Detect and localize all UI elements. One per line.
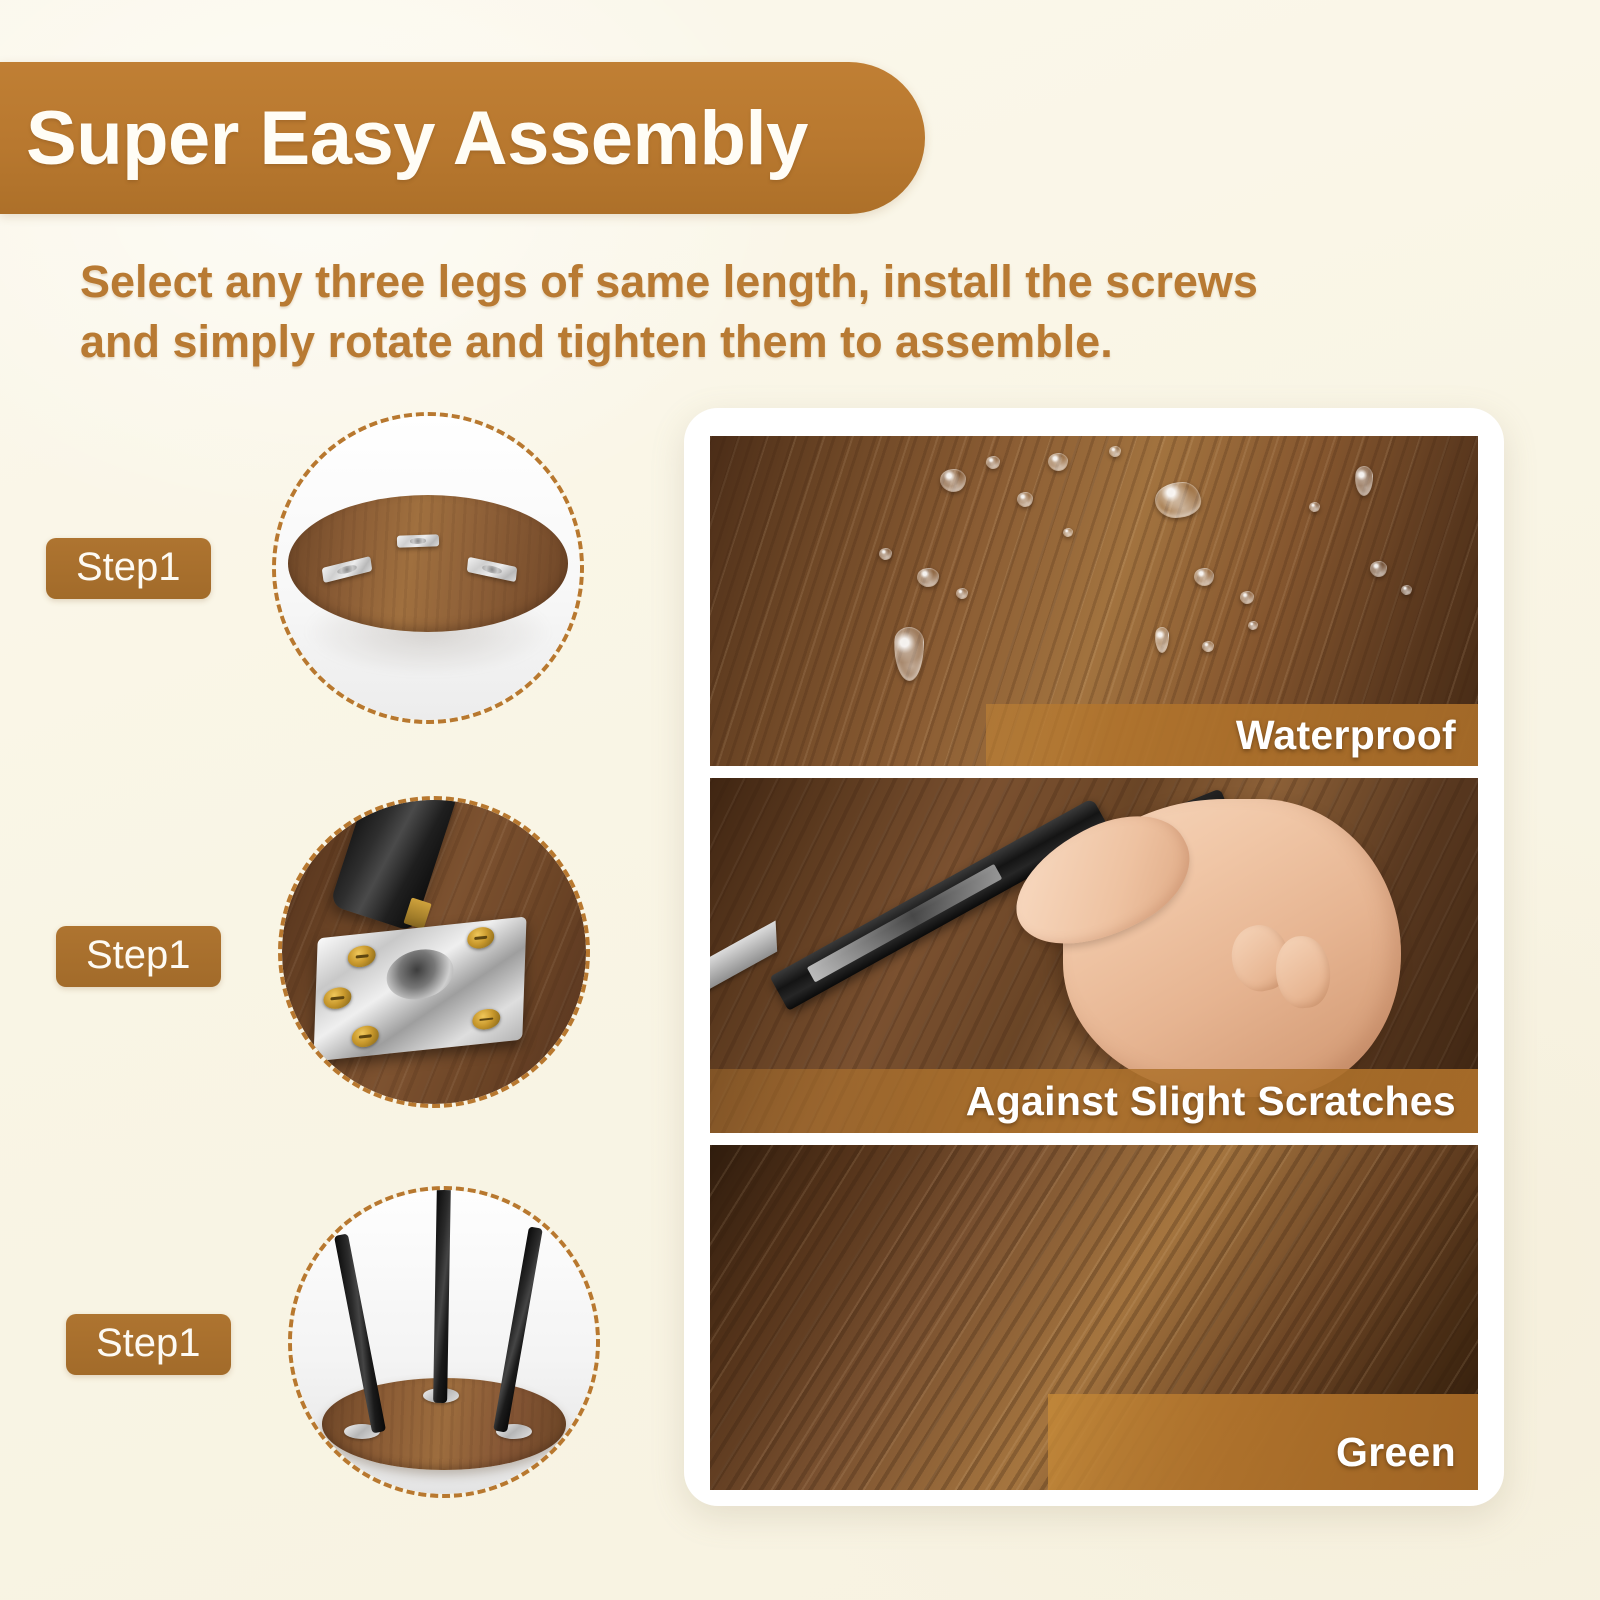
mounting-plate-icon (467, 557, 518, 583)
water-droplet-icon (956, 588, 968, 599)
tabletop-surface (288, 495, 568, 632)
step-badge-3: Step1 (66, 1314, 231, 1375)
feature-caption-scratches: Against Slight Scratches (710, 1069, 1478, 1133)
subtitle: Select any three legs of same length, in… (80, 252, 1340, 372)
feature-photo-card: Waterproof Against Slight Scratches Gree… (684, 408, 1504, 1506)
feature-caption-green: Green (1048, 1394, 1478, 1490)
water-droplet-icon (1194, 568, 1214, 586)
screw-icon (348, 944, 376, 968)
water-droplet-icon (1240, 591, 1254, 604)
water-droplet-icon (1248, 621, 1258, 630)
step-item: Step1 (0, 400, 660, 740)
step-item: Step1 (0, 788, 660, 1128)
mounting-plate-icon (314, 916, 527, 1061)
leg-mounting-illustration (282, 800, 586, 1104)
subtitle-line-2: and simply rotate and tighten them to as… (80, 312, 1340, 372)
tabletop-underside-illustration (276, 416, 580, 720)
step-illustration-3 (288, 1186, 600, 1498)
water-droplet-icon (1309, 502, 1320, 512)
feature-photo-green: Green (710, 1145, 1478, 1490)
subtitle-line-1: Select any three legs of same length, in… (80, 252, 1340, 312)
mounting-plate-icon (397, 534, 439, 548)
feature-photo-scratches: Against Slight Scratches (710, 778, 1478, 1133)
step-illustration-1 (272, 412, 584, 724)
mounting-plate-icon (321, 556, 372, 583)
screw-icon (473, 1007, 501, 1031)
step-illustration-2 (278, 796, 590, 1108)
assembled-legs-illustration (292, 1190, 596, 1494)
step-badge-2: Step1 (56, 926, 221, 987)
assembly-steps: Step1 Step1 (0, 390, 660, 1570)
step-badge-1: Step1 (46, 538, 211, 599)
screw-icon (467, 926, 495, 950)
title-banner: Super Easy Assembly (0, 62, 925, 214)
page-title: Super Easy Assembly (0, 95, 808, 182)
water-droplet-icon (1202, 641, 1214, 652)
finger-icon (1273, 934, 1334, 1011)
water-droplet-icon (1048, 453, 1068, 471)
feature-photo-waterproof: Waterproof (710, 436, 1478, 766)
screw-icon (352, 1025, 380, 1049)
water-droplet-icon (1401, 585, 1412, 595)
screw-icon (324, 986, 352, 1010)
step-item: Step1 (0, 1176, 660, 1516)
feature-caption-waterproof: Waterproof (986, 704, 1478, 766)
